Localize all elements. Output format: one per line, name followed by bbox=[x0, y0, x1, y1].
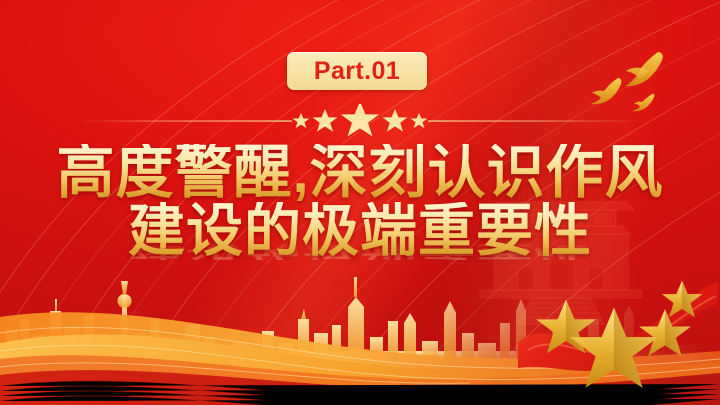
title-line-1: 高度警醒,深刻认识作风 bbox=[0, 144, 720, 202]
title-line-2: 建设的极端重要性 bbox=[0, 202, 720, 260]
page-title: 高度警醒,深刻认识作风 建设的极端重要性 bbox=[0, 144, 720, 260]
presentation-slide: Part.01 bbox=[0, 0, 720, 405]
slide-content: Part.01 bbox=[0, 0, 720, 405]
divider-stars-icon bbox=[293, 104, 428, 136]
section-badge[interactable]: Part.01 bbox=[287, 52, 427, 90]
section-badge-label: Part.01 bbox=[314, 59, 400, 84]
star-divider bbox=[0, 104, 720, 138]
